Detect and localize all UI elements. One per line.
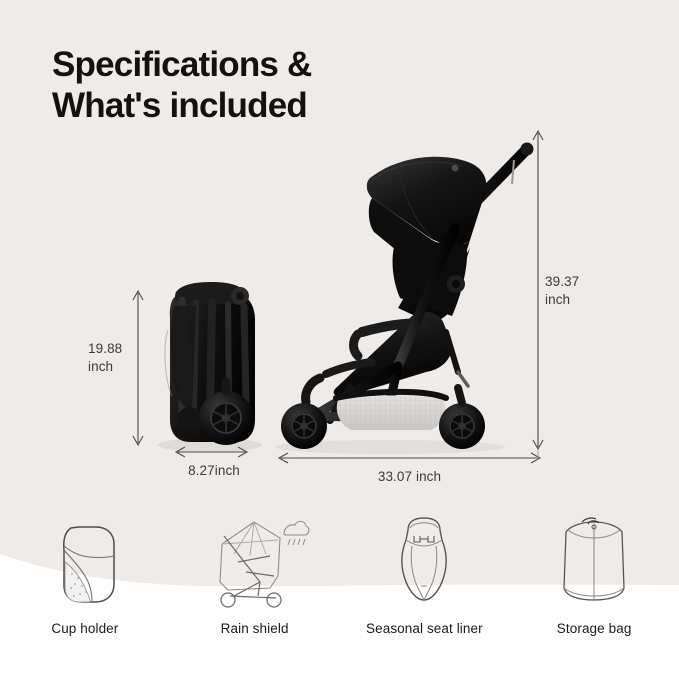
cup-holder-icon [35, 510, 135, 610]
included-accessories-row: Cup holder [0, 505, 679, 665]
accessory-label: Cup holder [51, 621, 118, 636]
accessory-rain-shield: Rain shield [170, 505, 340, 665]
folded-stroller-illustration [158, 282, 262, 452]
open-stroller-illustration: mp [275, 143, 534, 455]
seat-liner-icon [374, 510, 474, 610]
stroller-rear-wheel [281, 403, 327, 449]
storage-bag-icon [544, 510, 644, 610]
specifications-page: Specifications & What's included [0, 0, 679, 679]
accessory-label: Seasonal seat liner [366, 621, 483, 636]
product-diagram: mp [0, 120, 679, 520]
page-title: Specifications & What's included [52, 44, 482, 127]
product-illustration-stage: mp [0, 120, 679, 520]
accessory-label: Storage bag [557, 621, 632, 636]
rain-shield-art [200, 505, 310, 610]
dimension-label-folded-width: 8.27inch [171, 462, 257, 480]
seat-liner-art [374, 505, 474, 610]
dimension-label-folded-height: 19.88 inch [88, 340, 136, 376]
cup-holder-art [35, 505, 135, 610]
rain-shield-icon [200, 510, 310, 610]
storage-bag-art [544, 505, 644, 610]
accessory-label: Rain shield [221, 621, 289, 636]
page-title-line-1: Specifications & [52, 45, 312, 84]
dimension-open-length [279, 453, 540, 463]
rain-cloud-icon [284, 521, 309, 545]
accessory-seat-liner: Seasonal seat liner [340, 505, 510, 665]
dimension-label-open-height: 39.37 inch [545, 273, 603, 309]
accessory-storage-bag: Storage bag [509, 505, 679, 665]
accessory-cup-holder: Cup holder [0, 505, 170, 665]
dimension-open-height [533, 131, 543, 449]
dimension-label-open-length: 33.07 inch [332, 468, 487, 486]
